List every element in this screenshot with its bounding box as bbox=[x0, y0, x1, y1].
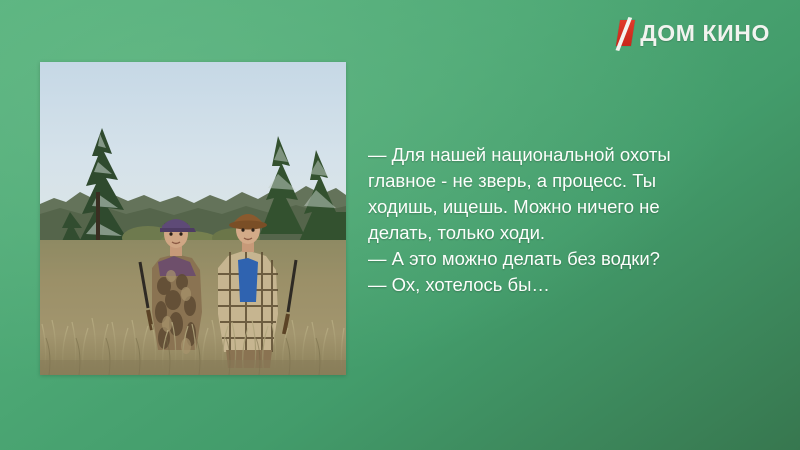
movie-still bbox=[40, 62, 346, 375]
slide-root: ДОМ КИНО bbox=[0, 0, 800, 450]
quote-line: делать, только ходи. bbox=[368, 220, 768, 246]
movie-quote: — Для нашей национальной охоты главное -… bbox=[368, 142, 768, 298]
quote-line: — А это можно делать без водки? bbox=[368, 246, 768, 272]
quote-line: — Для нашей национальной охоты bbox=[368, 142, 768, 168]
quote-line: главное - не зверь, а процесс. Ты bbox=[368, 168, 768, 194]
red-flag-mark-icon bbox=[616, 20, 635, 46]
movie-still-artwork bbox=[40, 62, 346, 375]
quote-line: — Ох, хотелось бы… bbox=[368, 272, 768, 298]
dom-kino-logo-text: ДОМ КИНО bbox=[640, 22, 770, 45]
dom-kino-logo: ДОМ КИНО bbox=[618, 18, 770, 48]
quote-line: ходишь, ищешь. Можно ничего не bbox=[368, 194, 768, 220]
